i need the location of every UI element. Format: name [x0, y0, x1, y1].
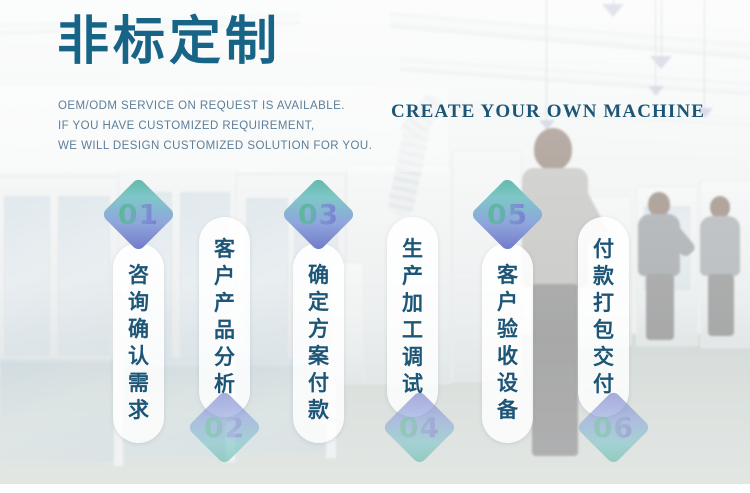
step-01-pill: 咨 询 确 认 需 求: [113, 243, 164, 443]
step-01-number-badge: 01: [105, 181, 171, 247]
step-06-char: 包: [593, 317, 614, 344]
banner-stage: 非标定制 OEM/ODM SERVICE ON REQUEST IS AVAIL…: [0, 0, 750, 493]
step-06-number: 06: [590, 404, 637, 451]
step-03-char: 案: [308, 343, 329, 370]
step-01-char: 确: [128, 316, 149, 343]
step-03-char: 方: [308, 316, 329, 343]
step-06-char: 打: [593, 290, 614, 317]
step-02-char: 分: [214, 344, 235, 371]
step-03-pill: 确 定 方 案 付 款: [293, 243, 344, 443]
step-01-char: 认: [128, 343, 149, 370]
step-04-char: 工: [402, 317, 423, 344]
step-04-char: 加: [402, 290, 423, 317]
step-06-pill: 付 款 打 包 交 付: [578, 217, 629, 417]
step-06-number-badge: 06: [580, 394, 646, 460]
step-02-char: 品: [214, 317, 235, 344]
step-02-char: 户: [214, 263, 235, 290]
step-02-char: 客: [214, 236, 235, 263]
step-06-char: 付: [593, 236, 614, 263]
step-05-char: 客: [497, 262, 518, 289]
step-05-number: 05: [484, 191, 531, 238]
step-01-number: 01: [115, 191, 162, 238]
step-04-char: 生: [402, 236, 423, 263]
step-04-pill: 生 产 加 工 调 试: [387, 217, 438, 417]
step-03-number-badge: 03: [285, 181, 351, 247]
step-05-char: 设: [497, 370, 518, 397]
step-02-pill: 客 户 产 品 分 析: [199, 217, 250, 417]
step-04-char: 产: [402, 263, 423, 290]
step-05-char: 收: [497, 343, 518, 370]
step-03-char: 确: [308, 262, 329, 289]
step-01-char: 求: [128, 397, 149, 424]
step-03-char: 定: [308, 289, 329, 316]
step-06-char: 款: [593, 263, 614, 290]
process-steps: 咨 询 确 认 需 求 01 客 户 产 品 分 析 02: [0, 0, 750, 493]
step-03-number: 03: [295, 191, 342, 238]
step-03-char: 款: [308, 397, 329, 424]
step-02-number-badge: 02: [191, 394, 257, 460]
step-06-char: 交: [593, 344, 614, 371]
step-02-char: 产: [214, 290, 235, 317]
step-02-number: 02: [201, 404, 248, 451]
step-01-char: 咨: [128, 262, 149, 289]
step-05-char: 备: [497, 397, 518, 424]
step-05-pill: 客 户 验 收 设 备: [482, 243, 533, 443]
step-03-char: 付: [308, 370, 329, 397]
step-04-number: 04: [396, 404, 443, 451]
step-04-number-badge: 04: [386, 394, 452, 460]
step-04-char: 调: [402, 344, 423, 371]
step-01-char: 询: [128, 289, 149, 316]
step-05-char: 户: [497, 289, 518, 316]
step-05-char: 验: [497, 316, 518, 343]
step-01-char: 需: [128, 370, 149, 397]
step-05-number-badge: 05: [474, 181, 540, 247]
